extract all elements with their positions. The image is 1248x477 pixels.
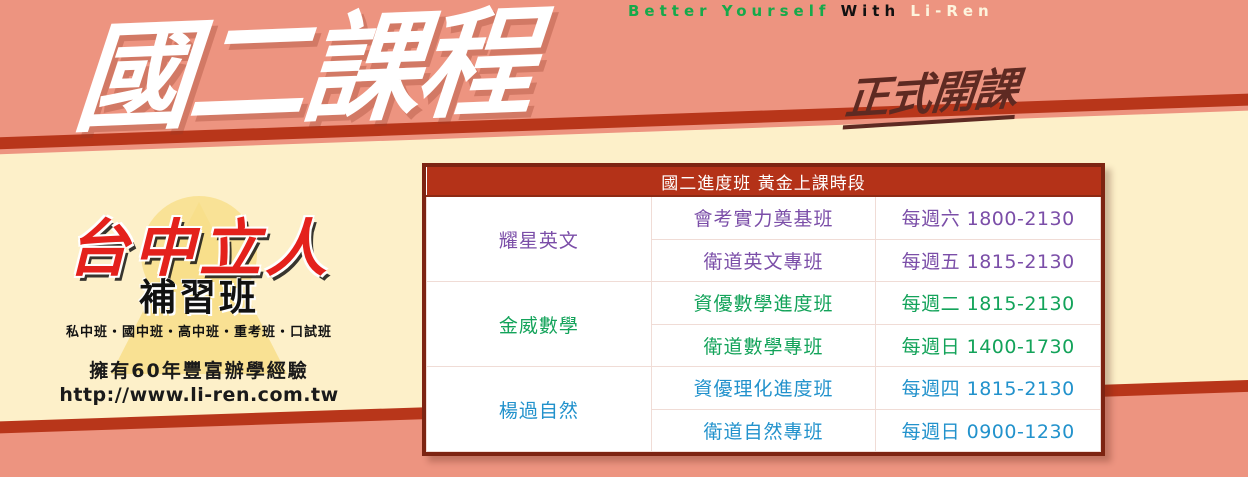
logo-website-url[interactable]: http://www.li-ren.com.tw: [34, 384, 364, 406]
logo-brand-name: 台中立人: [34, 196, 364, 281]
subject-cell: 金威數學: [427, 282, 652, 367]
schedule-table-title: 國二進度班 黃金上課時段: [427, 167, 1101, 196]
schedule-table: 國二進度班 黃金上課時段 耀星英文會考實力奠基班每週六 1800-2130衛道英…: [426, 167, 1101, 452]
course-cell: 資優數學進度班: [651, 282, 876, 324]
time-cell: 每週日 1400-1730: [876, 324, 1101, 366]
schedule-table-container: 國二進度班 黃金上課時段 耀星英文會考實力奠基班每週六 1800-2130衛道英…: [422, 163, 1105, 456]
course-cell: 衛道數學專班: [651, 324, 876, 366]
time-cell: 每週四 1815-2130: [876, 367, 1101, 409]
table-row: 耀星英文會考實力奠基班每週六 1800-2130: [427, 196, 1101, 239]
time-cell: 每週六 1800-2130: [876, 196, 1101, 239]
tagline-part-2: With: [841, 2, 901, 20]
tagline-part-3: Li-Ren: [910, 2, 993, 20]
headline-title: 國二課程: [70, 3, 536, 139]
table-row: 金威數學資優數學進度班每週二 1815-2130: [427, 282, 1101, 324]
logo-institution-type: 補習班: [34, 279, 364, 318]
school-logo: 台中立人 補習班 私中班・國中班・高中班・重考班・口試班 擁有60年豐富辦學經驗…: [34, 196, 364, 418]
time-cell: 每週二 1815-2130: [876, 282, 1101, 324]
logo-experience-text: 擁有60年豐富辦學經驗: [34, 356, 364, 383]
course-cell: 衛道英文專班: [651, 239, 876, 281]
headline-subtitle: 正式開課: [843, 68, 1020, 130]
schedule-table-body: 耀星英文會考實力奠基班每週六 1800-2130衛道英文專班每週五 1815-2…: [427, 196, 1101, 452]
time-cell: 每週五 1815-2130: [876, 239, 1101, 281]
tagline-part-1: Better Yourself: [628, 2, 830, 20]
course-cell: 衛道自然專班: [651, 409, 876, 451]
logo-class-list: 私中班・國中班・高中班・重考班・口試班: [34, 321, 364, 340]
course-cell: 資優理化進度班: [651, 367, 876, 409]
table-header-row: 國二進度班 黃金上課時段: [427, 167, 1101, 196]
course-cell: 會考實力奠基班: [651, 196, 876, 239]
schedule-table-head: 國二進度班 黃金上課時段: [427, 167, 1101, 196]
promo-banner: Better Yourself With Li-Ren 國二課程 正式開課 台中…: [0, 0, 1248, 477]
subject-cell: 耀星英文: [427, 196, 652, 282]
subject-cell: 楊過自然: [427, 367, 652, 452]
table-row: 楊過自然資優理化進度班每週四 1815-2130: [427, 367, 1101, 409]
brand-tagline: Better Yourself With Li-Ren: [628, 2, 994, 20]
time-cell: 每週日 0900-1230: [876, 409, 1101, 451]
